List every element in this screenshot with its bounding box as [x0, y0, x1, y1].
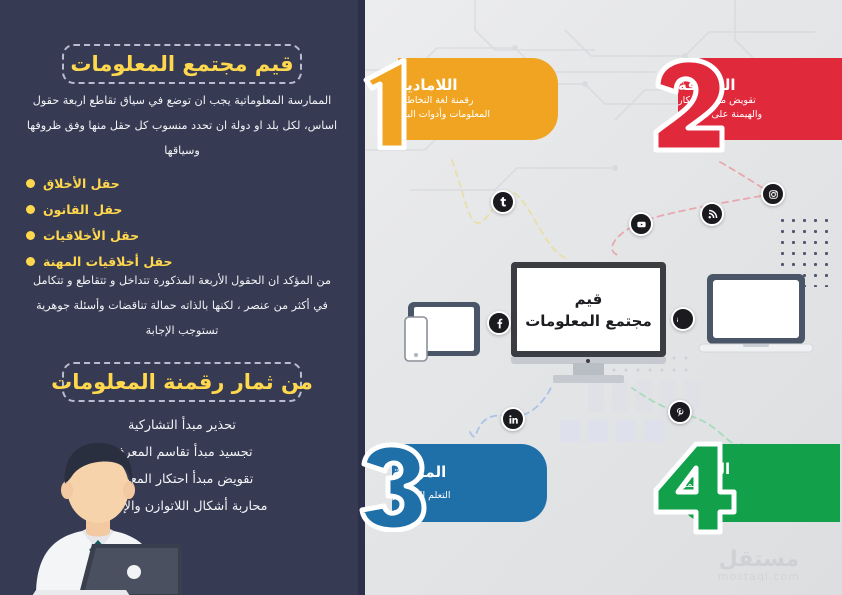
monitor-indicator-dot	[586, 359, 590, 363]
banner-4: التحول العمل ليس مركزيا	[650, 444, 842, 532]
facebook-icon[interactable]	[487, 311, 511, 335]
phone-device	[404, 316, 428, 362]
infographic-canvas: قيم مجتمع المعلومات الممارسة المعلوماتية…	[0, 0, 842, 595]
bullet-label: حقل الأخلاقيات	[43, 228, 139, 243]
bullet-dot-icon	[26, 257, 35, 266]
bullet-label: حقل القانون	[43, 202, 122, 217]
heading-values-text: قيم مجتمع المعلومات	[70, 52, 293, 76]
googleplus-icon[interactable]: G+	[671, 307, 695, 331]
bullet-label: حقل الأخلاق	[43, 176, 120, 191]
person-illustration	[6, 432, 188, 595]
tumblr-icon[interactable]	[491, 190, 515, 214]
heading-fruits-text: من ثمار رقمنة المعلومات	[51, 370, 313, 394]
list-item: حقل القانون	[26, 196, 338, 222]
pinterest-icon[interactable]	[668, 400, 692, 424]
monitor-line-2: مجتمع المعلومات	[525, 310, 652, 332]
list-item: حقل الأخلاق	[26, 170, 338, 196]
banner-4-number	[650, 440, 738, 536]
paragraph-two: من المؤكد ان الحقول الأربعة المذكورة تتد…	[26, 268, 338, 343]
heading-fruits-box: من ثمار رقمنة المعلومات	[62, 362, 302, 402]
banner-2: المعرفة تقويض مبدأ الاحتكار والهيمنة على…	[648, 58, 842, 150]
list-item: حقل الأخلاقيات	[26, 222, 338, 248]
monitor-stand-neck	[573, 363, 604, 375]
heading-values-box: قيم مجتمع المعلومات	[62, 44, 302, 84]
instagram-icon[interactable]	[761, 182, 785, 206]
svg-text:G+: G+	[677, 318, 679, 324]
banner-2-number	[648, 58, 734, 154]
paragraph-one: الممارسة المعلوماتية يجب ان توضع في سياق…	[26, 88, 338, 163]
fields-bullet-list: حقل الأخلاق حقل القانون حقل الأخلاقيات ح…	[26, 170, 338, 274]
youtube-icon[interactable]	[629, 212, 653, 236]
banner-3-number	[354, 442, 432, 532]
linkedin-icon[interactable]	[501, 407, 525, 431]
banner-1-number	[352, 58, 432, 150]
bullet-dot-icon	[26, 205, 35, 214]
bullet-dot-icon	[26, 179, 35, 188]
monitor-line-1: قيم	[575, 288, 603, 310]
laptop-device	[697, 272, 815, 360]
monitor-stand-base	[553, 375, 624, 383]
bullet-dot-icon	[26, 231, 35, 240]
rss-icon[interactable]	[700, 202, 724, 226]
monitor-screen: قيم مجتمع المعلومات	[511, 262, 666, 357]
banner-1: اللامادية رقمنة لغة التخاطب المعلومات وأ…	[352, 58, 542, 150]
banner-3: المرونة التعلم المستمر	[352, 444, 538, 530]
bullet-label: حقل أخلاقيات المهنة	[43, 254, 173, 269]
central-monitor: قيم مجتمع المعلومات	[511, 262, 666, 382]
